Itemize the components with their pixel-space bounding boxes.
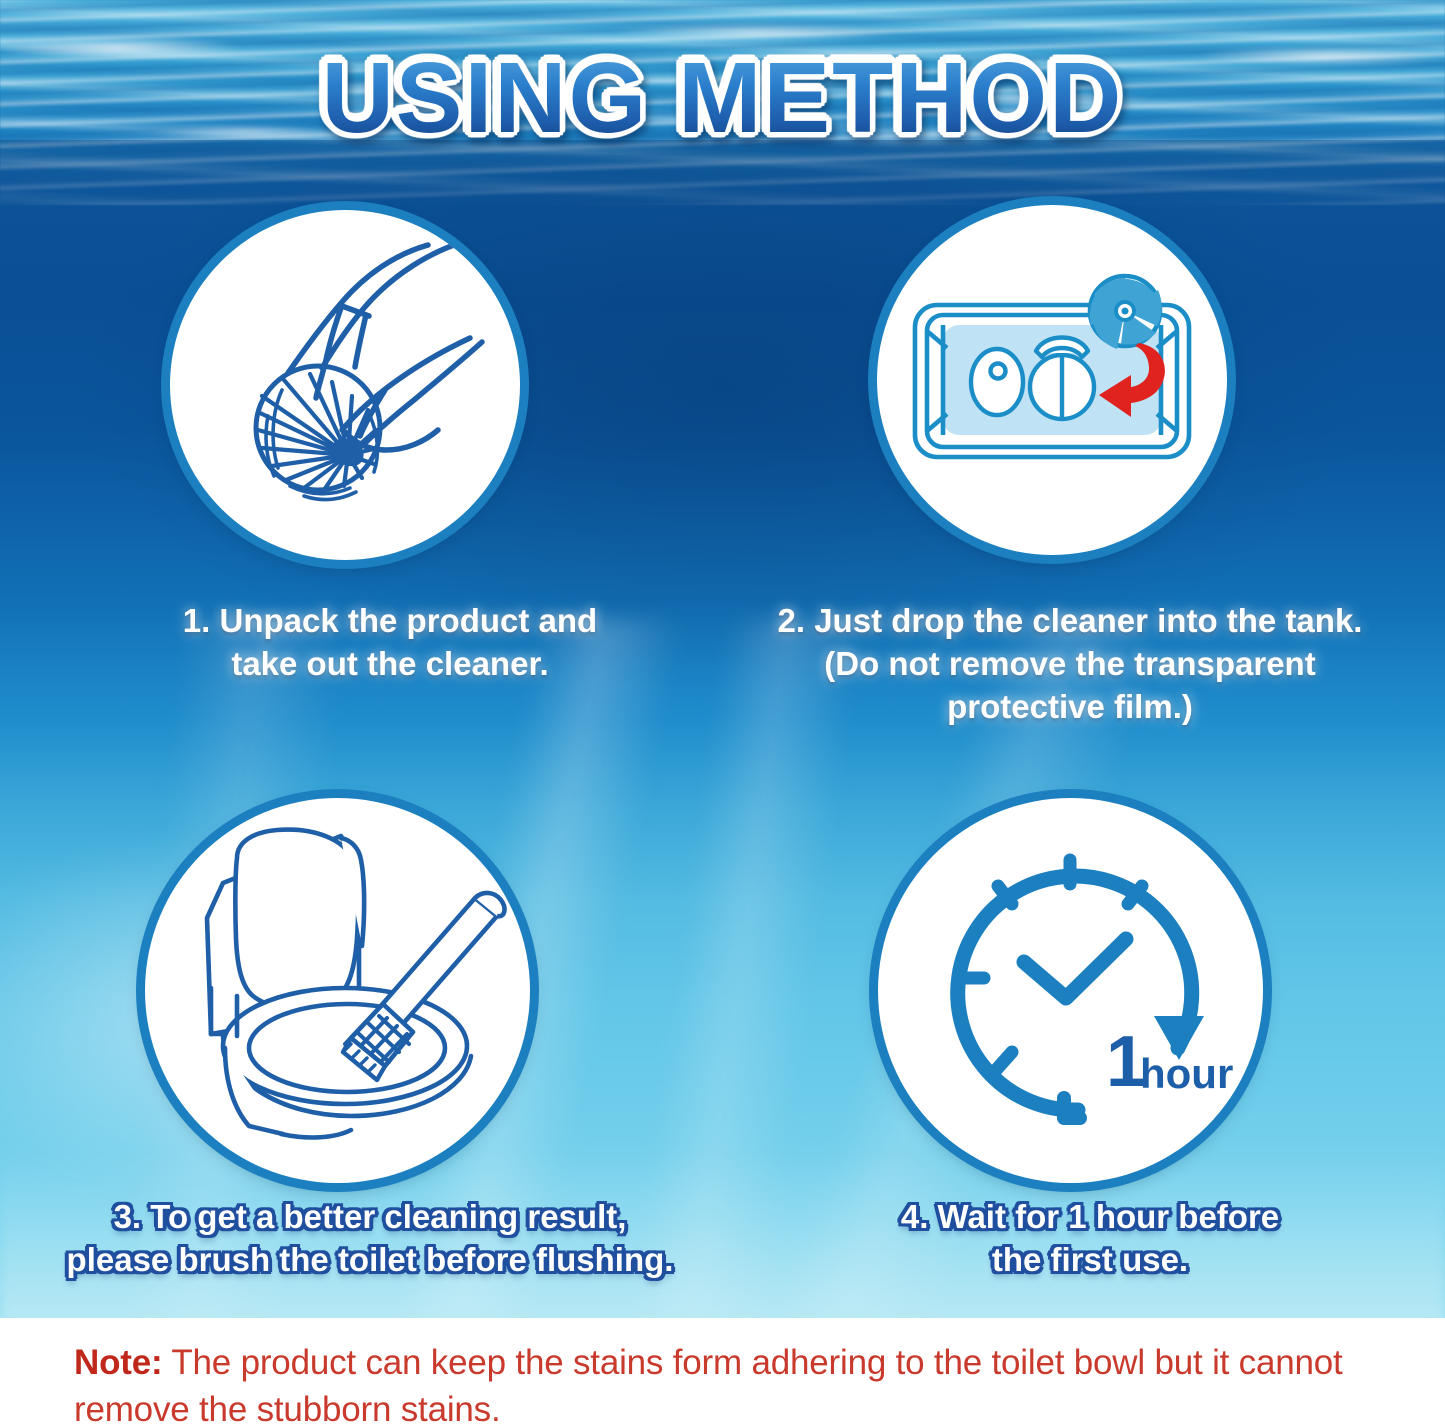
step-1-caption: 1. Unpack the product and take out the c…: [60, 600, 720, 686]
clock-hands: [1024, 939, 1126, 998]
tank-float-ball: [971, 349, 1023, 415]
note-label: Note:: [74, 1343, 162, 1382]
step-4-caption-line-2: the first use.: [760, 1239, 1420, 1282]
step-3-caption-line-1: 3. To get a better cleaning result,: [10, 1196, 730, 1239]
infographic-page: USING METHOD: [0, 0, 1445, 1424]
clock-one-hour-icon: 1 hour: [878, 798, 1263, 1183]
toilet-with-brush-icon: [145, 798, 530, 1183]
step-3-caption: 3. To get a better cleaning result, plea…: [10, 1196, 730, 1282]
step-4-caption-line-1: 4. Wait for 1 hour before: [760, 1196, 1420, 1239]
step-2-caption: 2. Just drop the cleaner into the tank. …: [725, 600, 1415, 729]
step-2-caption-line-2: (Do not remove the transparent: [725, 643, 1415, 686]
step-4-caption: 4. Wait for 1 hour before the first use.: [760, 1196, 1420, 1282]
note-text: Note: The product can keep the stains fo…: [74, 1340, 1374, 1424]
step-2-caption-line-3: protective film.): [725, 686, 1415, 729]
step-4-icon-circle: 1 hour: [878, 798, 1263, 1183]
step-3-icon-circle: [145, 798, 530, 1183]
hand-holding-cleaner-ball-icon: [170, 210, 520, 560]
page-title: USING METHOD: [0, 46, 1445, 151]
step-1-caption-line-2: take out the cleaner.: [60, 643, 720, 686]
step-1-icon-circle: [170, 210, 520, 560]
step-2-icon-circle: [877, 205, 1227, 555]
toilet-tank-drop-cleaner-icon: [877, 205, 1227, 555]
step-1-caption-line-1: 1. Unpack the product and: [60, 600, 720, 643]
step-2-caption-line-1: 2. Just drop the cleaner into the tank.: [725, 600, 1415, 643]
step-3-caption-line-2: please brush the toilet before flushing.: [10, 1239, 730, 1282]
clock-duration-unit: hour: [1140, 1050, 1233, 1097]
note-body-line-1: The product can keep the stains form adh…: [171, 1343, 1145, 1382]
